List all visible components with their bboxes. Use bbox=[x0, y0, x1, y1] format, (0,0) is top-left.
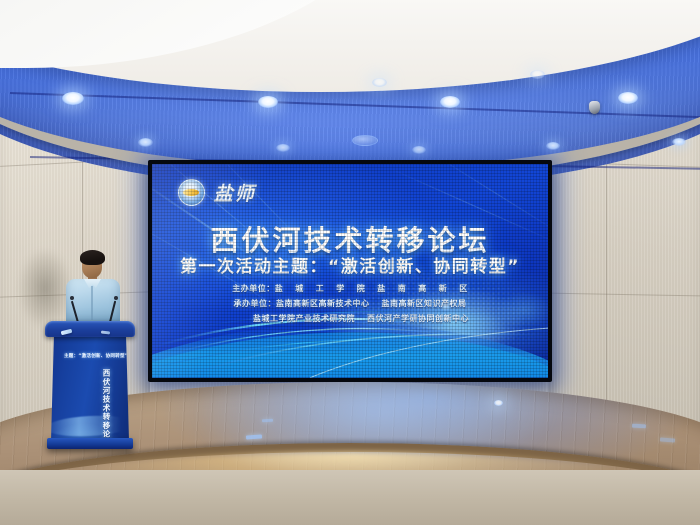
led-content-layer: 盐师 西伏河技术转移论坛 第一次活动主题：“激活创新、协同转型” 主办单位：盐城… bbox=[152, 164, 548, 378]
floor-marker bbox=[262, 419, 273, 423]
organizer-org-10: 区 bbox=[459, 284, 468, 293]
floor-marker bbox=[632, 424, 646, 429]
co-organizer-line: 承办单位：盐南高新区高新技术中心盐南高新区知识产权局 bbox=[152, 298, 548, 309]
podium-vertical-title: 西伏河技术转移论坛第一次活动 bbox=[101, 369, 112, 441]
organizer-org-4: 学 bbox=[336, 284, 345, 293]
front-floor bbox=[0, 470, 700, 525]
co-organizer-line-2: 盐城工学院产业技术研究院西伏河产学研协同创新中心 bbox=[152, 313, 548, 324]
podium: 主题：“激活创新、协同转型” 西伏河技术转移论坛第一次活动 bbox=[45, 321, 135, 449]
co-organizer-org-d: 西伏河产学研协同创新中心 bbox=[367, 314, 469, 323]
organizer-org-6: 盐 bbox=[377, 284, 386, 293]
brandmark-text: 盐师 bbox=[214, 179, 256, 206]
organizer-org-9: 新 bbox=[439, 284, 448, 293]
organizer-org-7: 南 bbox=[398, 284, 407, 293]
ceiling-spotlight bbox=[372, 78, 387, 87]
ceiling-spotlight bbox=[546, 142, 560, 150]
ceiling-spotlight bbox=[62, 92, 84, 105]
co-organizer-inner: 盐城工学院产业技术研究院西伏河产学研协同创新中心 bbox=[231, 313, 469, 324]
institute-emblem-icon bbox=[178, 179, 205, 206]
speaker-shirt-placket bbox=[91, 286, 93, 320]
microphone-icon bbox=[70, 296, 74, 300]
organizer-org-5: 院 bbox=[357, 284, 366, 293]
co-organizer-org-c: 盐城工学院产业技术研究院 bbox=[253, 314, 355, 323]
ceiling-spotlight bbox=[530, 70, 545, 79]
ceiling-spotlight bbox=[618, 92, 638, 104]
organizer-label: 主办单位： bbox=[232, 284, 275, 293]
co-organizer-org-b: 盐南高新区知识产权局 bbox=[382, 299, 467, 308]
forum-subtitle: 第一次活动主题：“激活创新、协同转型” bbox=[152, 252, 548, 277]
brand-lockup: 盐师 bbox=[178, 179, 256, 206]
speaker-hair bbox=[80, 250, 105, 265]
organizer-org-3: 工 bbox=[316, 284, 325, 293]
conference-hall-photo: 盐师 西伏河技术转移论坛 第一次活动主题：“激活创新、协同转型” 主办单位：盐城… bbox=[0, 0, 700, 525]
ceiling-spotlight bbox=[258, 96, 278, 108]
podium-theme-text: 主题：“激活创新、协同转型” bbox=[60, 353, 129, 359]
organizer-org-8: 高 bbox=[418, 284, 427, 293]
microphone-icon bbox=[114, 296, 118, 300]
led-screen-surface: 盐师 西伏河技术转移论坛 第一次活动主题：“激活创新、协同转型” 主办单位：盐城… bbox=[152, 164, 548, 378]
podium-top-surface bbox=[45, 321, 135, 337]
ceiling-spotlight bbox=[276, 144, 290, 152]
organizer-org-2: 城 bbox=[295, 284, 304, 293]
ceiling-camera-icon bbox=[589, 101, 600, 114]
ceiling-spotlight bbox=[672, 138, 686, 146]
ceiling-spotlight bbox=[138, 138, 153, 147]
co-organizer-org-a: 盐南高新区高新技术中心 bbox=[276, 299, 370, 308]
podium-body: 主题：“激活创新、协同转型” 西伏河技术转移论坛第一次活动 bbox=[51, 329, 129, 441]
organizer-line: 主办单位：盐城工学院盐南高新区 bbox=[152, 283, 548, 294]
organizer-org-1: 盐 bbox=[275, 284, 284, 293]
floor-light-reflection bbox=[494, 400, 503, 406]
wall-seam bbox=[548, 293, 700, 297]
ceiling-spotlight bbox=[440, 96, 460, 108]
speaker-shirt bbox=[66, 279, 120, 325]
ceiling-vent-icon bbox=[352, 135, 378, 146]
co-organizer-label: 承办单位： bbox=[234, 299, 277, 308]
ceiling-spotlight bbox=[412, 146, 426, 154]
podium-base bbox=[47, 438, 133, 449]
led-video-wall: 盐师 西伏河技术转移论坛 第一次活动主题：“激活创新、协同转型” 主办单位：盐城… bbox=[148, 160, 552, 382]
